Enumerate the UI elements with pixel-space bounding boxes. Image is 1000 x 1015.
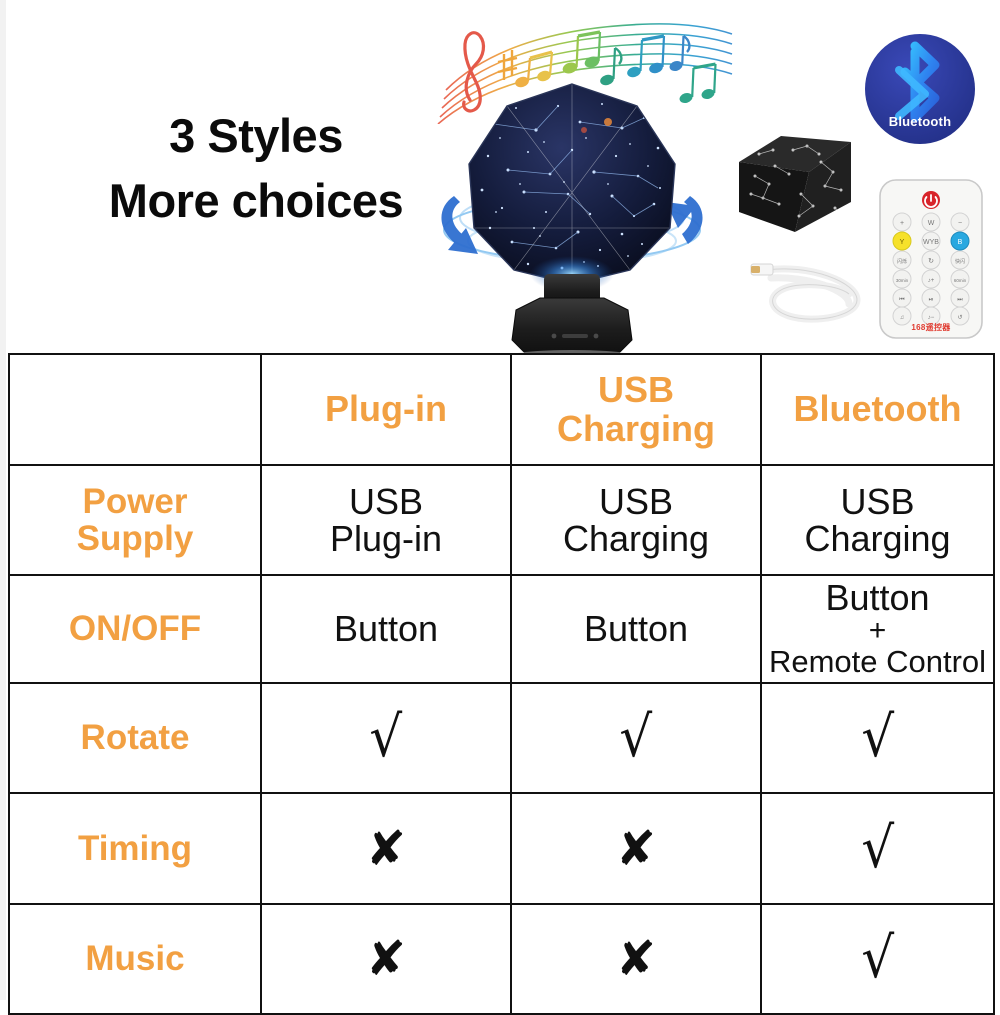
svg-text:⏭: ⏭ (957, 297, 963, 303)
cell-on-off-bluetooth-line2: Remote Control (766, 646, 989, 679)
bluetooth-badge-label: Bluetooth (863, 114, 977, 129)
headline: 3 Styles More choices (56, 104, 456, 234)
svg-text:↻: ↻ (928, 258, 934, 265)
cell-power-supply-usb: USB Charging (511, 465, 761, 575)
cross-mark-icon: ✘ (616, 825, 656, 873)
cell-music-plugin: ✘ (261, 904, 511, 1014)
cross-mark-icon: ✘ (366, 825, 406, 873)
table-row: Timing ✘ ✘ √ (9, 793, 994, 904)
cross-mark-icon: ✘ (616, 935, 656, 983)
usb-charging-cable (745, 250, 875, 330)
cell-timing-plugin: ✘ (261, 793, 511, 904)
row-label-power-supply: Power Supply (9, 465, 261, 575)
svg-text:⏯: ⏯ (929, 297, 934, 303)
row-label-music: Music (9, 904, 261, 1014)
constellation-gift-box (735, 128, 855, 236)
cell-power-supply-bluetooth: USB Charging (761, 465, 994, 575)
headline-line-1: 3 Styles (56, 104, 456, 169)
cell-timing-usb: ✘ (511, 793, 761, 904)
column-header-plugin: Plug-in (261, 354, 511, 465)
svg-text:⏮: ⏮ (899, 297, 905, 303)
cell-music-bluetooth: √ (761, 904, 994, 1014)
svg-text:30min: 30min (896, 278, 909, 283)
table-header-row: Plug-in USB Charging Bluetooth (9, 354, 994, 465)
row-label-power-supply-line1: Power (14, 483, 256, 520)
check-mark-icon: √ (370, 710, 403, 766)
column-header-usb-charging-line1: USB (516, 371, 756, 409)
svg-text:快闪: 快闪 (955, 258, 965, 265)
cell-on-off-bluetooth-plus: + (766, 616, 989, 646)
table-row: Power Supply USB Plug-in USB Charging US… (9, 465, 994, 575)
svg-text:60min: 60min (954, 278, 967, 283)
remote-model-label: 168遥控器 (876, 322, 986, 333)
column-header-usb-charging: USB Charging (511, 354, 761, 465)
cell-rotate-usb: √ (511, 683, 761, 793)
cell-power-supply-bluetooth-line1: USB (766, 483, 989, 520)
bluetooth-badge: Bluetooth (863, 32, 977, 146)
cell-on-off-bluetooth-line1: Button (766, 579, 989, 616)
svg-text:Y: Y (900, 239, 905, 246)
check-mark-icon: √ (620, 710, 653, 766)
svg-text:W: W (928, 220, 935, 227)
cell-power-supply-usb-line2: Charging (516, 520, 756, 557)
check-mark-icon: √ (861, 931, 894, 987)
check-mark-icon: √ (861, 821, 894, 877)
cell-on-off-usb: Button (511, 575, 761, 683)
svg-text:♪−: ♪− (928, 315, 935, 321)
left-edge-strip (0, 0, 6, 1000)
row-label-timing: Timing (9, 793, 261, 904)
svg-text:+: + (900, 220, 904, 227)
star-projector-lamp (432, 78, 712, 360)
cell-music-usb: ✘ (511, 904, 761, 1014)
table-row: ON/OFF Button Button Button + Remote Con… (9, 575, 994, 683)
cell-on-off-plugin: Button (261, 575, 511, 683)
svg-text:♪+: ♪+ (928, 278, 935, 284)
cell-rotate-plugin: √ (261, 683, 511, 793)
svg-text:闪烁: 闪烁 (897, 258, 907, 265)
svg-text:−: − (958, 220, 962, 227)
table-row: Rotate √ √ √ (9, 683, 994, 793)
svg-text:B: B (958, 239, 963, 246)
cross-mark-icon: ✘ (366, 935, 406, 983)
comparison-table: Plug-in USB Charging Bluetooth Power Sup… (8, 353, 995, 1015)
cell-on-off-bluetooth: Button + Remote Control (761, 575, 994, 683)
column-header-usb-charging-line2: Charging (516, 410, 756, 448)
cell-rotate-bluetooth: √ (761, 683, 994, 793)
remote-control: + W − Y WYB B 闪烁 ↻ 快闪 30min ♪+ 60min ⏮ ⏯… (876, 178, 986, 340)
cell-timing-bluetooth: √ (761, 793, 994, 904)
cell-power-supply-plugin-line2: Plug-in (266, 520, 506, 557)
svg-text:♫: ♫ (900, 315, 905, 321)
svg-text:↺: ↺ (957, 314, 962, 321)
infographic-page: 3 Styles More choices (0, 0, 1000, 1000)
column-header-bluetooth: Bluetooth (761, 354, 994, 465)
row-label-power-supply-line2: Supply (14, 520, 256, 557)
table-corner-cell (9, 354, 261, 465)
check-mark-icon: √ (861, 710, 894, 766)
cell-power-supply-plugin: USB Plug-in (261, 465, 511, 575)
cell-power-supply-usb-line1: USB (516, 483, 756, 520)
row-label-rotate: Rotate (9, 683, 261, 793)
headline-line-2: More choices (56, 169, 456, 234)
table-row: Music ✘ ✘ √ (9, 904, 994, 1014)
cell-power-supply-plugin-line1: USB (266, 483, 506, 520)
cell-power-supply-bluetooth-line2: Charging (766, 520, 989, 557)
svg-text:WYB: WYB (923, 239, 939, 246)
row-label-on-off: ON/OFF (9, 575, 261, 683)
